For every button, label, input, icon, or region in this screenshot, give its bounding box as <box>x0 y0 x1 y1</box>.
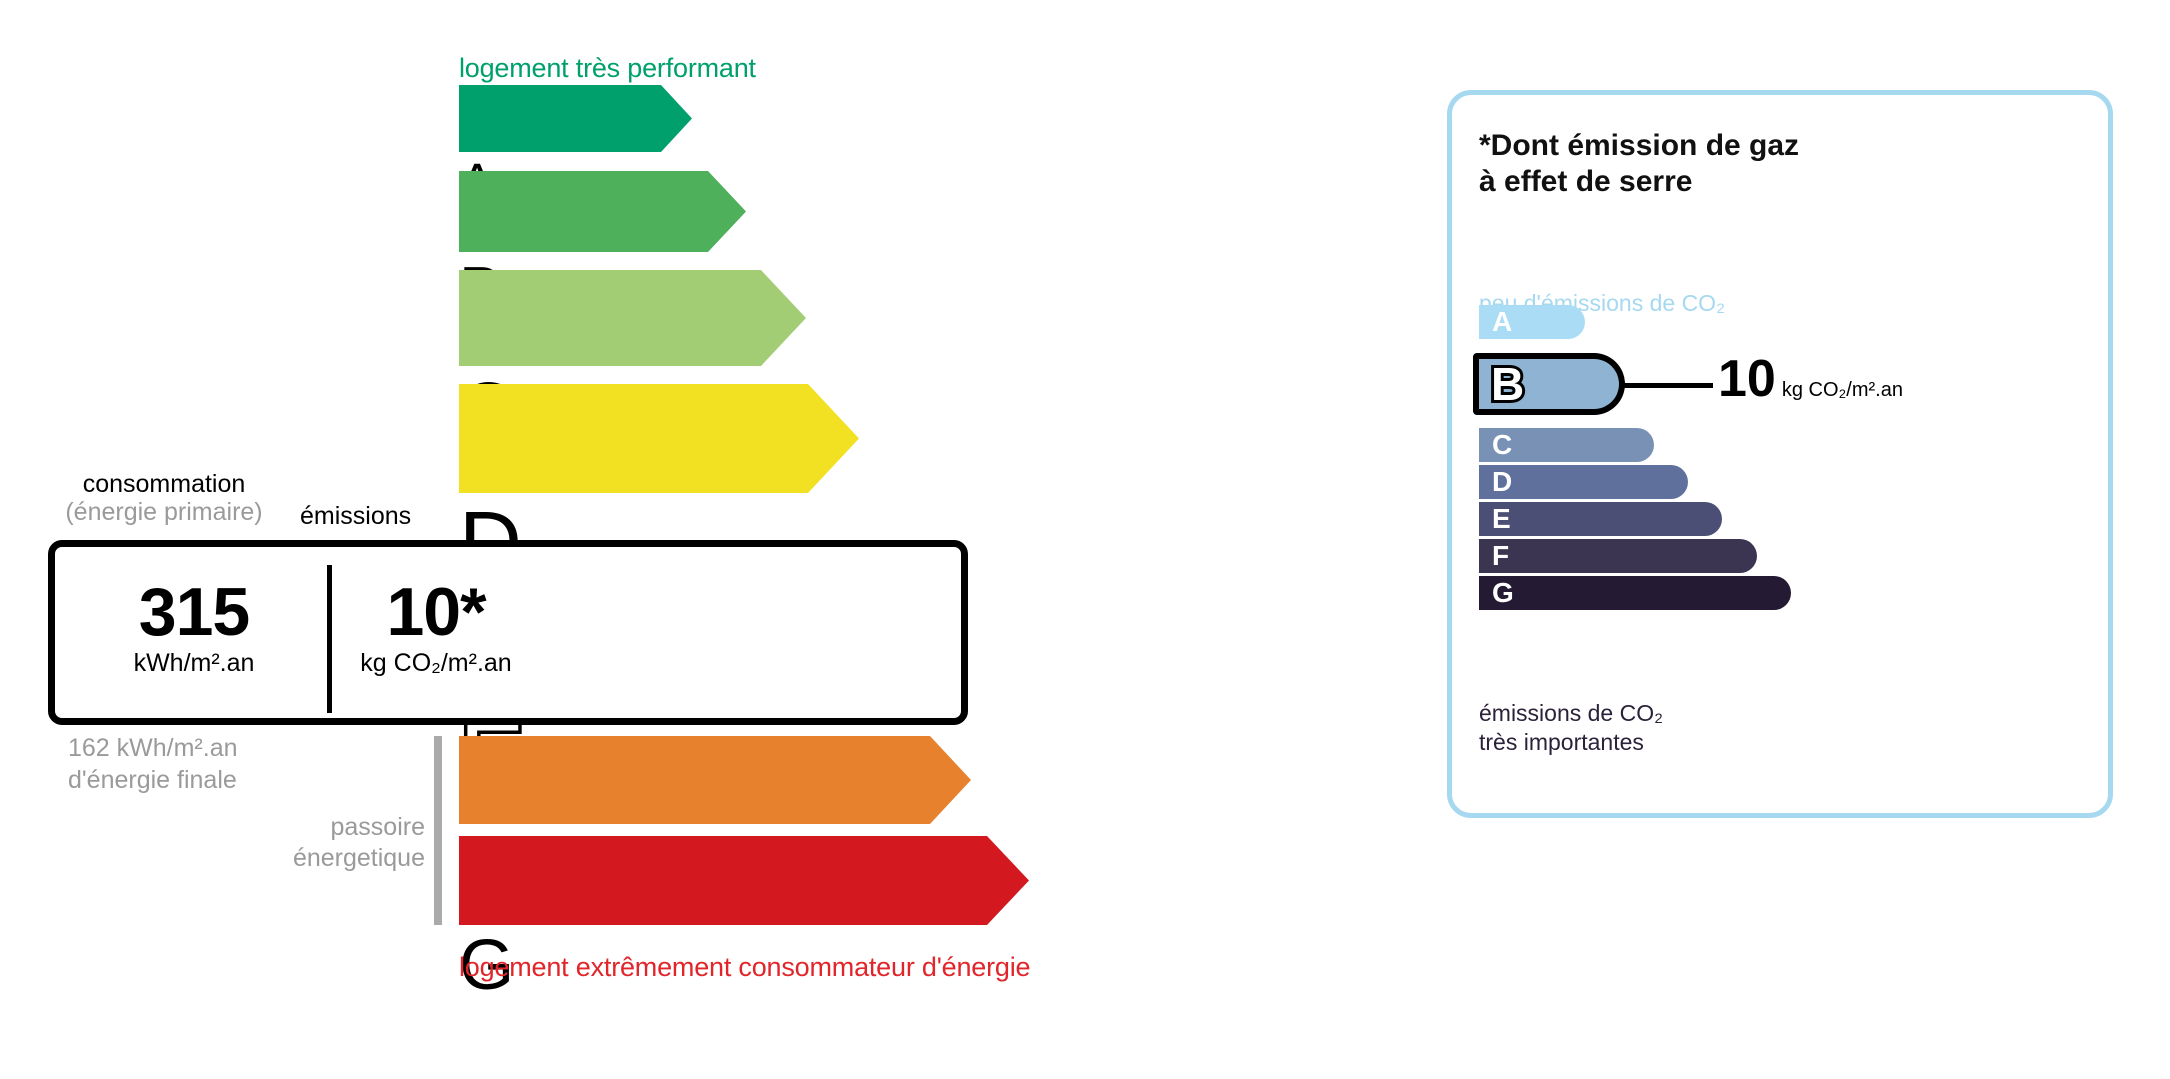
ghg-bar-letter-a: A <box>1492 308 1512 336</box>
ghg-title-line1: *Dont émission de gaz <box>1479 128 1799 164</box>
passoire-energetique-indicator-bar <box>434 736 442 925</box>
ghg-callout-leader-line <box>1612 383 1713 388</box>
energy-bar-a: A <box>459 85 692 152</box>
consumption-value: 315 <box>65 577 323 648</box>
ghg-emissions-panel: *Dont émission de gaz à effet de serre p… <box>1447 90 2113 818</box>
emissions-label: émissions <box>300 502 411 531</box>
ghg-bar-letter-d: D <box>1492 468 1512 496</box>
ghg-bottom-line2: très importantes <box>1479 728 1663 757</box>
ghg-bar-b: B <box>1473 353 1625 415</box>
ghg-bar-e: E <box>1479 502 1722 536</box>
passoire-line2: énergetique <box>210 843 425 874</box>
final-energy-note: 162 kWh/m².an d'énergie finale <box>68 733 238 797</box>
ghg-bar-letter-g: G <box>1492 579 1514 607</box>
ghg-value-unit: kg CO₂/m².an <box>1782 379 1903 401</box>
ghg-bar-f: F <box>1479 539 1757 573</box>
energy-bar-d: D <box>459 384 859 493</box>
consumption-unit: kWh/m².an <box>65 650 323 678</box>
energy-top-caption: logement très performant <box>459 53 756 84</box>
energy-bar-c: C <box>459 270 806 366</box>
passoire-line1: passoire <box>210 812 425 843</box>
consumption-label: consommation (énergie primaire) <box>44 471 284 526</box>
energy-bar-b: B <box>459 171 746 252</box>
energy-bar-shape-d <box>459 384 859 493</box>
final-energy-line2: d'énergie finale <box>68 765 238 797</box>
emissions-value: 10* <box>336 577 536 648</box>
energy-bar-f: F <box>459 736 971 824</box>
ghg-bar-letter-c: C <box>1492 431 1512 459</box>
consumption-label-sub: (énergie primaire) <box>44 499 284 527</box>
ghg-bar-d: D <box>1479 465 1688 499</box>
energy-bar-g: G <box>459 836 1029 925</box>
passoire-energetique-label: passoire énergetique <box>210 812 425 875</box>
emissions-value-cell: 10* kg CO₂/m².an <box>336 577 536 678</box>
ghg-panel-title: *Dont émission de gaz à effet de serre <box>1479 128 1799 200</box>
emissions-unit: kg CO₂/m².an <box>336 650 536 678</box>
energy-bar-shape-c <box>459 270 806 366</box>
ghg-bar-c: C <box>1479 428 1654 462</box>
energy-bar-shape-g <box>459 836 1029 925</box>
value-box-divider <box>327 565 332 713</box>
ghg-title-line2: à effet de serre <box>1479 164 1799 200</box>
ghg-bottom-line1: émissions de CO₂ <box>1479 699 1663 728</box>
measured-values-box: 315 kWh/m².an 10* kg CO₂/m².an <box>48 540 968 725</box>
ghg-bottom-caption: émissions de CO₂ très importantes <box>1479 699 1663 757</box>
ghg-bar-letter-e: E <box>1492 505 1511 533</box>
ghg-value-number: 10 <box>1718 350 1776 408</box>
ghg-bar-letter-b: B <box>1491 361 1524 407</box>
energy-bottom-caption: logement extrêmement consommateur d'éner… <box>459 952 1030 983</box>
energy-bar-shape-a <box>459 85 692 152</box>
energy-bar-shape-b <box>459 171 746 252</box>
final-energy-line1: 162 kWh/m².an <box>68 733 238 765</box>
energy-bar-shape-f <box>459 736 971 824</box>
ghg-callout-value: 10kg CO₂/m².an <box>1718 353 1903 405</box>
ghg-bar-letter-f: F <box>1492 542 1509 570</box>
ghg-bar-a: A <box>1479 305 1585 339</box>
energy-performance-panel: logement très performant ABCDEFG consomm… <box>0 0 1400 1079</box>
consumption-label-main: consommation <box>83 470 246 498</box>
ghg-bar-g: G <box>1479 576 1791 610</box>
consumption-value-cell: 315 kWh/m².an <box>65 577 323 678</box>
